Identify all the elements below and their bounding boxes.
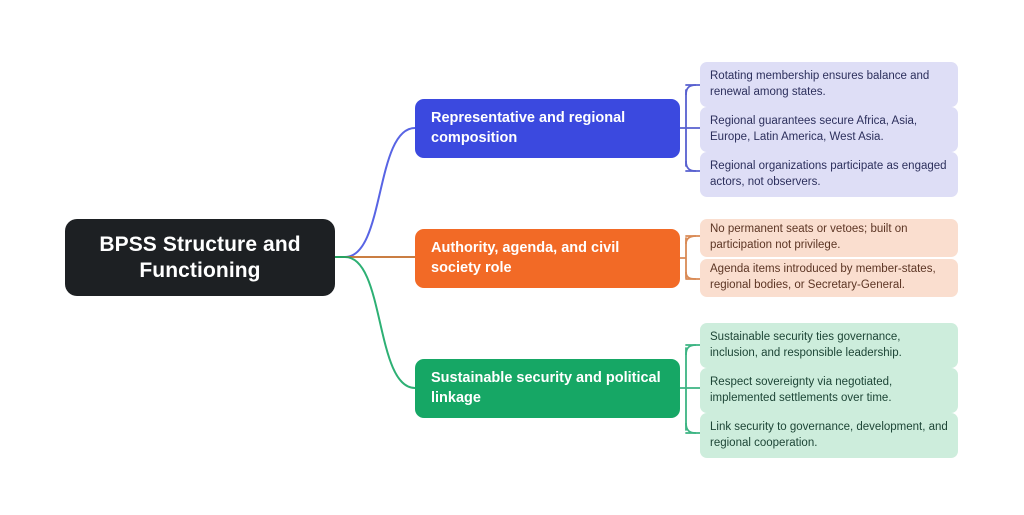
- leaf-node-authority-2[interactable]: Agenda items introduced by member-states…: [700, 259, 958, 297]
- root-node-label: BPSS Structure and Functioning: [79, 232, 321, 283]
- leaf-label-composition-1: Rotating membership ensures balance and …: [710, 69, 948, 101]
- branch-node-sustainable-security[interactable]: Sustainable security and political linka…: [415, 359, 680, 418]
- leaf-label-authority-1: No permanent seats or vetoes; built on p…: [710, 222, 948, 254]
- branch-label-authority: Authority, agenda, and civil society rol…: [431, 239, 664, 277]
- connector-composition-bracket: [680, 85, 700, 171]
- leaf-node-authority-1[interactable]: No permanent seats or vetoes; built on p…: [700, 219, 958, 257]
- leaf-node-sustainable-security-1[interactable]: Sustainable security ties governance, in…: [700, 323, 958, 368]
- leaf-node-composition-3[interactable]: Regional organizations participate as en…: [700, 152, 958, 197]
- leaf-label-authority-2: Agenda items introduced by member-states…: [710, 262, 948, 294]
- mindmap-canvas: BPSS Structure and Functioning Represent…: [0, 0, 1024, 515]
- leaf-label-sustainable-security-1: Sustainable security ties governance, in…: [710, 330, 948, 362]
- leaf-label-sustainable-security-3: Link security to governance, development…: [710, 420, 948, 452]
- leaf-label-sustainable-security-2: Respect sovereignty via negotiated, impl…: [710, 375, 948, 407]
- branch-label-composition: Representative and regional composition: [431, 109, 664, 147]
- connector-authority-bracket-corners: [686, 236, 696, 279]
- leaf-label-composition-3: Regional organizations participate as en…: [710, 159, 948, 191]
- branch-node-authority[interactable]: Authority, agenda, and civil society rol…: [415, 229, 680, 288]
- root-node[interactable]: BPSS Structure and Functioning: [65, 219, 335, 296]
- connector-composition-bracket-corners: [686, 85, 696, 171]
- leaf-node-composition-2[interactable]: Regional guarantees secure Africa, Asia,…: [700, 107, 958, 152]
- connector-sustainable-security-bracket: [680, 345, 700, 433]
- connector-authority-bracket: [680, 236, 700, 279]
- connector-root-to-composition: [335, 128, 415, 257]
- leaf-node-sustainable-security-2[interactable]: Respect sovereignty via negotiated, impl…: [700, 368, 958, 413]
- branch-label-sustainable-security: Sustainable security and political linka…: [431, 369, 664, 407]
- branch-node-composition[interactable]: Representative and regional composition: [415, 99, 680, 158]
- leaf-node-sustainable-security-3[interactable]: Link security to governance, development…: [700, 413, 958, 458]
- connector-sustainable-security-bracket-corners: [686, 345, 696, 433]
- leaf-label-composition-2: Regional guarantees secure Africa, Asia,…: [710, 114, 948, 146]
- leaf-node-composition-1[interactable]: Rotating membership ensures balance and …: [700, 62, 958, 107]
- connector-root-to-sustainable-security: [335, 257, 415, 388]
